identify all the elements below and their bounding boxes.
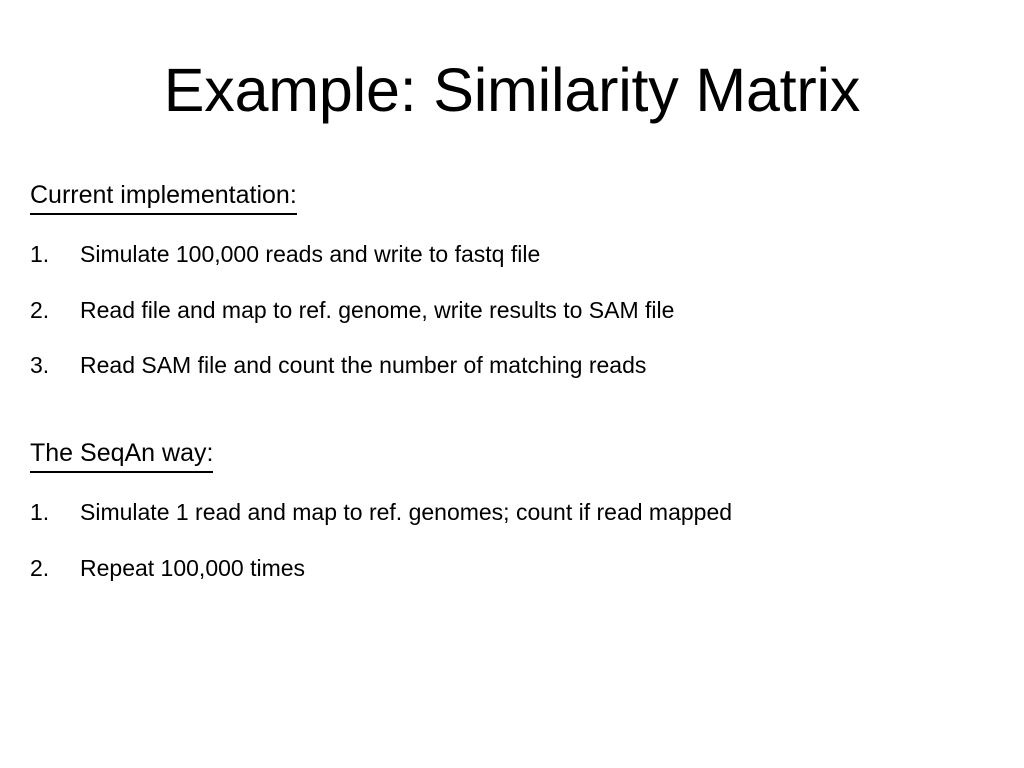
- section-spacer: [30, 380, 994, 438]
- list-item-marker: 2.: [30, 555, 80, 583]
- list-item-marker: 1.: [30, 499, 80, 527]
- list-item-marker: 2.: [30, 297, 80, 325]
- section-heading-current-implementation: Current implementation:: [30, 180, 297, 215]
- section-heading-seqan-way: The SeqAn way:: [30, 438, 213, 473]
- slide-body: Current implementation: 1. Simulate 100,…: [30, 180, 994, 582]
- list-item: 2. Read file and map to ref. genome, wri…: [30, 297, 994, 325]
- page-title: Example: Similarity Matrix: [0, 56, 1024, 124]
- list-item: 1. Simulate 1 read and map to ref. genom…: [30, 499, 994, 527]
- section-heading-row: Current implementation:: [30, 180, 994, 215]
- numbered-list-seqan-way: 1. Simulate 1 read and map to ref. genom…: [30, 499, 994, 582]
- slide-canvas: Example: Similarity Matrix Current imple…: [0, 0, 1024, 768]
- list-item-text: Read SAM file and count the number of ma…: [80, 352, 994, 380]
- list-item-text: Read file and map to ref. genome, write …: [80, 297, 994, 325]
- list-item-marker: 3.: [30, 352, 80, 380]
- list-item: 1. Simulate 100,000 reads and write to f…: [30, 241, 994, 269]
- section-heading-row: The SeqAn way:: [30, 438, 994, 473]
- section-current-implementation: Current implementation: 1. Simulate 100,…: [30, 180, 994, 380]
- numbered-list-current-implementation: 1. Simulate 100,000 reads and write to f…: [30, 241, 994, 380]
- list-item: 3. Read SAM file and count the number of…: [30, 352, 994, 380]
- list-item-marker: 1.: [30, 241, 80, 269]
- list-item: 2. Repeat 100,000 times: [30, 555, 994, 583]
- section-seqan-way: The SeqAn way: 1. Simulate 1 read and ma…: [30, 438, 994, 582]
- list-item-text: Simulate 1 read and map to ref. genomes;…: [80, 499, 994, 527]
- list-item-text: Repeat 100,000 times: [80, 555, 994, 583]
- list-item-text: Simulate 100,000 reads and write to fast…: [80, 241, 994, 269]
